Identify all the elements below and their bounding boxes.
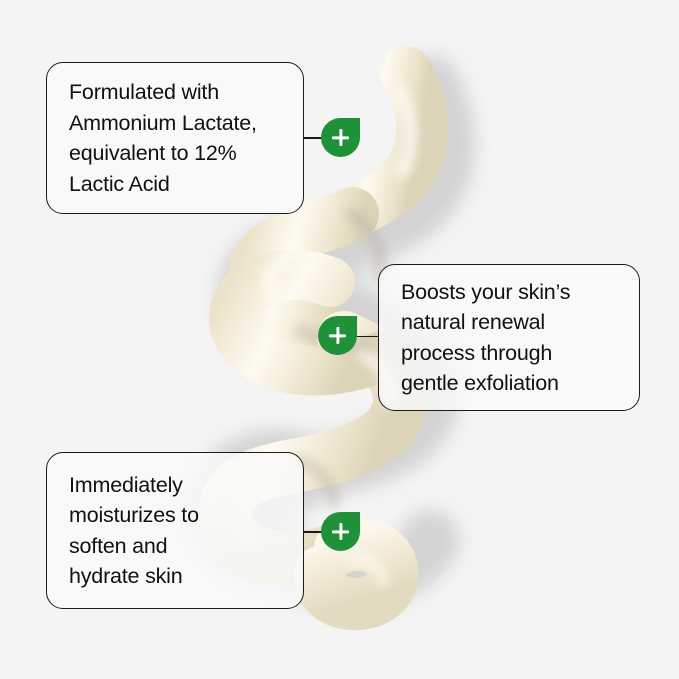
callout-box-1: Formulated with Ammonium Lactate, equiva…	[46, 62, 304, 214]
callout-box-2: Boosts your skin’s natural renewal proce…	[378, 264, 640, 411]
product-benefits-infographic: Formulated with Ammonium Lactate, equiva…	[0, 0, 679, 679]
connector-line-2	[355, 336, 379, 338]
plus-leaf-icon-2	[318, 316, 357, 355]
plus-icon	[331, 128, 350, 147]
callout-text-1: Formulated with Ammonium Lactate, equiva…	[47, 77, 273, 199]
plus-leaf-icon-3	[321, 512, 360, 551]
callout-text-2: Boosts your skin’s natural renewal proce…	[379, 277, 586, 399]
plus-icon	[331, 522, 350, 541]
callout-box-3: Immediately moisturizes to soften and hy…	[46, 452, 304, 609]
plus-leaf-icon-1	[321, 118, 360, 157]
plus-icon	[328, 326, 347, 345]
callout-text-3: Immediately moisturizes to soften and hy…	[47, 470, 215, 592]
